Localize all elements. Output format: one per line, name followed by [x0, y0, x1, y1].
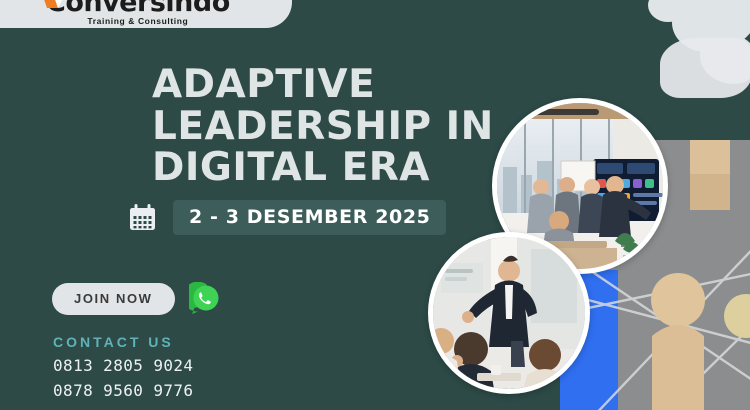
whatsapp-icon[interactable] [189, 282, 223, 316]
promo-banner: Conversindo Training & Consulting ADAPTI… [0, 0, 750, 410]
logo-wordmark: Conversindo [46, 0, 230, 16]
contact-phone-2[interactable]: 0878 9560 9776 [53, 381, 193, 400]
event-date-badge: 2 - 3 DESEMBER 2025 [173, 200, 446, 235]
logo-tagline: Training & Consulting [87, 17, 188, 26]
title-line-3: DIGITAL ERA [152, 147, 512, 189]
torn-paper-accent [660, 38, 750, 98]
contact-us-label: CONTACT US [53, 334, 193, 350]
logo-header-bar: Conversindo Training & Consulting [0, 0, 292, 28]
title-line-1: ADAPTIVE [152, 64, 512, 106]
calendar-icon [128, 203, 157, 232]
logo-text: Conversindo Training & Consulting [46, 0, 230, 25]
event-date-row: 2 - 3 DESEMBER 2025 [128, 200, 446, 235]
join-now-button[interactable]: JOIN NOW [52, 283, 175, 315]
contact-block: CONTACT US 0813 2805 9024 0878 9560 9776 [53, 334, 193, 400]
cta-row: JOIN NOW [52, 282, 223, 316]
contact-phone-1[interactable]: 0813 2805 9024 [53, 356, 193, 375]
conversindo-chevron-mark [36, 0, 70, 12]
title-line-2: LEADERSHIP IN [152, 106, 512, 148]
page-title: ADAPTIVE LEADERSHIP IN DIGITAL ERA [152, 64, 512, 189]
photo-presenter-with-colleagues [428, 232, 590, 394]
